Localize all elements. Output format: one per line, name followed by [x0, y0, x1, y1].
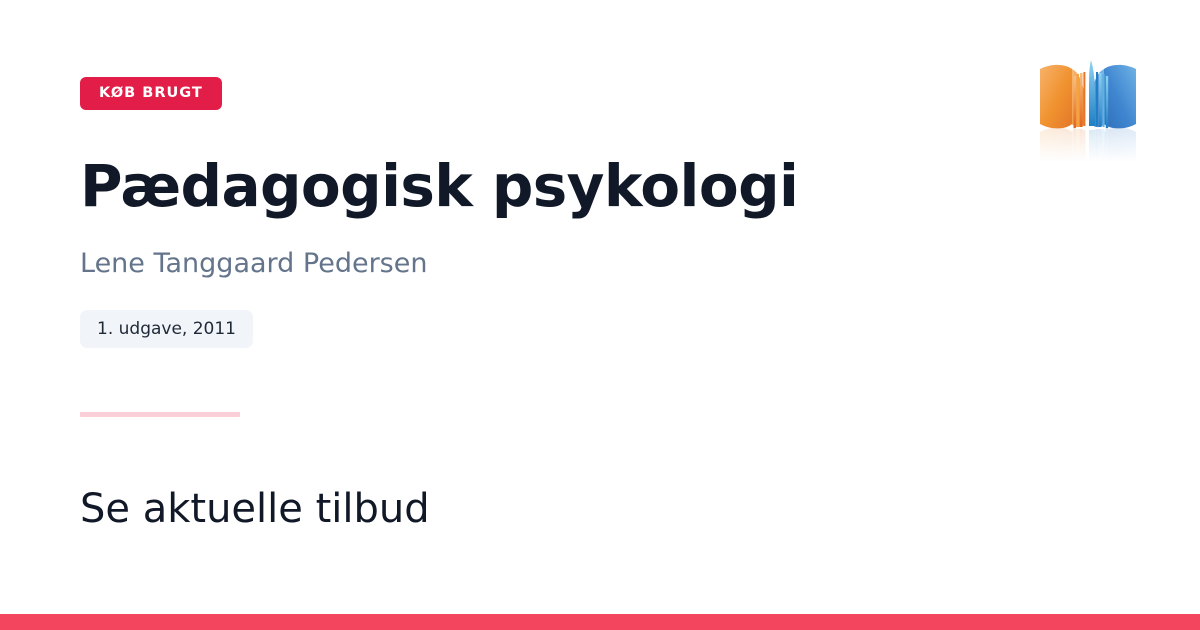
open-book-logo: [1032, 50, 1144, 162]
share-card: KØB BRUGT Pædagogisk psykologi Lene Tang…: [0, 0, 1200, 630]
book-author: Lene Tanggaard Pedersen: [80, 247, 427, 281]
bottom-accent-bar: [0, 614, 1200, 630]
condition-badge[interactable]: KØB BRUGT: [80, 77, 222, 110]
section-divider: [80, 412, 240, 417]
book-edition-badge: 1. udgave, 2011: [80, 310, 253, 348]
book-title: Pædagogisk psykologi: [80, 155, 798, 219]
offers-cta-label[interactable]: Se aktuelle tilbud: [80, 485, 430, 533]
